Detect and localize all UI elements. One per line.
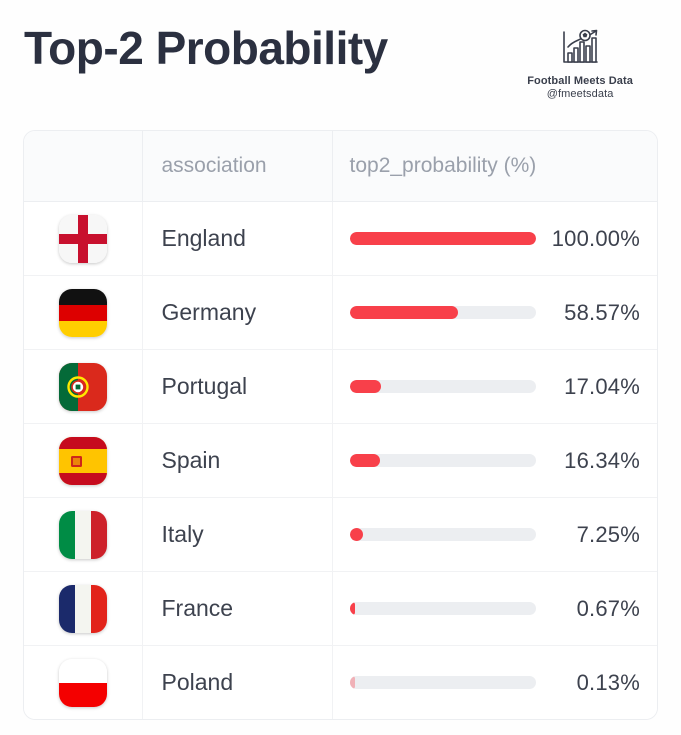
header: Top-2 Probability: [0, 0, 681, 120]
germany-flag-icon: [59, 289, 107, 337]
table-row: Poland 0.13%: [24, 646, 657, 720]
italy-flag-icon: [59, 511, 107, 559]
infographic-page: Top-2 Probability: [0, 0, 681, 735]
progress-track: [350, 454, 536, 467]
flag-cell: [24, 572, 142, 646]
table-row: England 100.00%: [24, 202, 657, 276]
probability-value: 58.57%: [549, 300, 641, 326]
progress-track: [350, 232, 536, 245]
progress-fill: [350, 676, 356, 689]
flag-cell: [24, 646, 142, 720]
column-header-probability: top2_probability (%): [332, 131, 657, 202]
probability-value: 16.34%: [549, 448, 641, 474]
progress-fill: [350, 232, 536, 245]
progress-track: [350, 306, 536, 319]
flag-cell: [24, 276, 142, 350]
brand-name: Football Meets Data: [527, 75, 633, 87]
probability-value: 0.67%: [549, 596, 641, 622]
page-title: Top-2 Probability: [24, 22, 388, 75]
probability-cell: 7.25%: [332, 498, 657, 572]
portugal-flag-icon: [59, 363, 107, 411]
progress-fill: [350, 602, 356, 615]
progress-fill: [350, 380, 382, 393]
table-header-row: association top2_probability (%): [24, 131, 657, 202]
poland-flag-icon: [59, 659, 107, 707]
association-name: France: [142, 572, 332, 646]
probability-value: 7.25%: [549, 522, 641, 548]
flag-cell: [24, 498, 142, 572]
table-row: Germany 58.57%: [24, 276, 657, 350]
progress-track: [350, 602, 536, 615]
progress-track: [350, 380, 536, 393]
table-body: England 100.00%: [24, 202, 657, 720]
progress-track: [350, 528, 536, 541]
association-name: Italy: [142, 498, 332, 572]
table-row: Portugal 17.04%: [24, 350, 657, 424]
progress-fill: [350, 528, 363, 541]
table-row: Italy 7.25%: [24, 498, 657, 572]
england-flag-icon: [59, 215, 107, 263]
table-row: Spain 16.34%: [24, 424, 657, 498]
flag-cell: [24, 350, 142, 424]
column-header-association: association: [142, 131, 332, 202]
table-row: France 0.67%: [24, 572, 657, 646]
flag-cell: [24, 424, 142, 498]
association-name: Poland: [142, 646, 332, 720]
bar-chart-football-icon: [558, 26, 602, 70]
association-name: Spain: [142, 424, 332, 498]
probability-value: 0.13%: [549, 670, 641, 696]
france-flag-icon: [59, 585, 107, 633]
flag-cell: [24, 202, 142, 276]
table-header: association top2_probability (%): [24, 131, 657, 202]
association-name: England: [142, 202, 332, 276]
probability-value: 100.00%: [549, 226, 641, 252]
probability-cell: 0.67%: [332, 572, 657, 646]
probability-table: association top2_probability (%) England: [24, 131, 657, 719]
association-name: Germany: [142, 276, 332, 350]
progress-track: [350, 676, 536, 689]
probability-cell: 17.04%: [332, 350, 657, 424]
probability-value: 17.04%: [549, 374, 641, 400]
probability-cell: 16.34%: [332, 424, 657, 498]
column-header-flag: [24, 131, 142, 202]
brand-handle: @fmeetsdata: [547, 88, 614, 100]
probability-cell: 58.57%: [332, 276, 657, 350]
probability-cell: 0.13%: [332, 646, 657, 720]
probability-cell: 100.00%: [332, 202, 657, 276]
progress-fill: [350, 306, 459, 319]
brand-block: Football Meets Data @fmeetsdata: [527, 26, 633, 100]
probability-table-card: association top2_probability (%) England: [23, 130, 658, 720]
association-name: Portugal: [142, 350, 332, 424]
progress-fill: [350, 454, 380, 467]
spain-flag-icon: [59, 437, 107, 485]
